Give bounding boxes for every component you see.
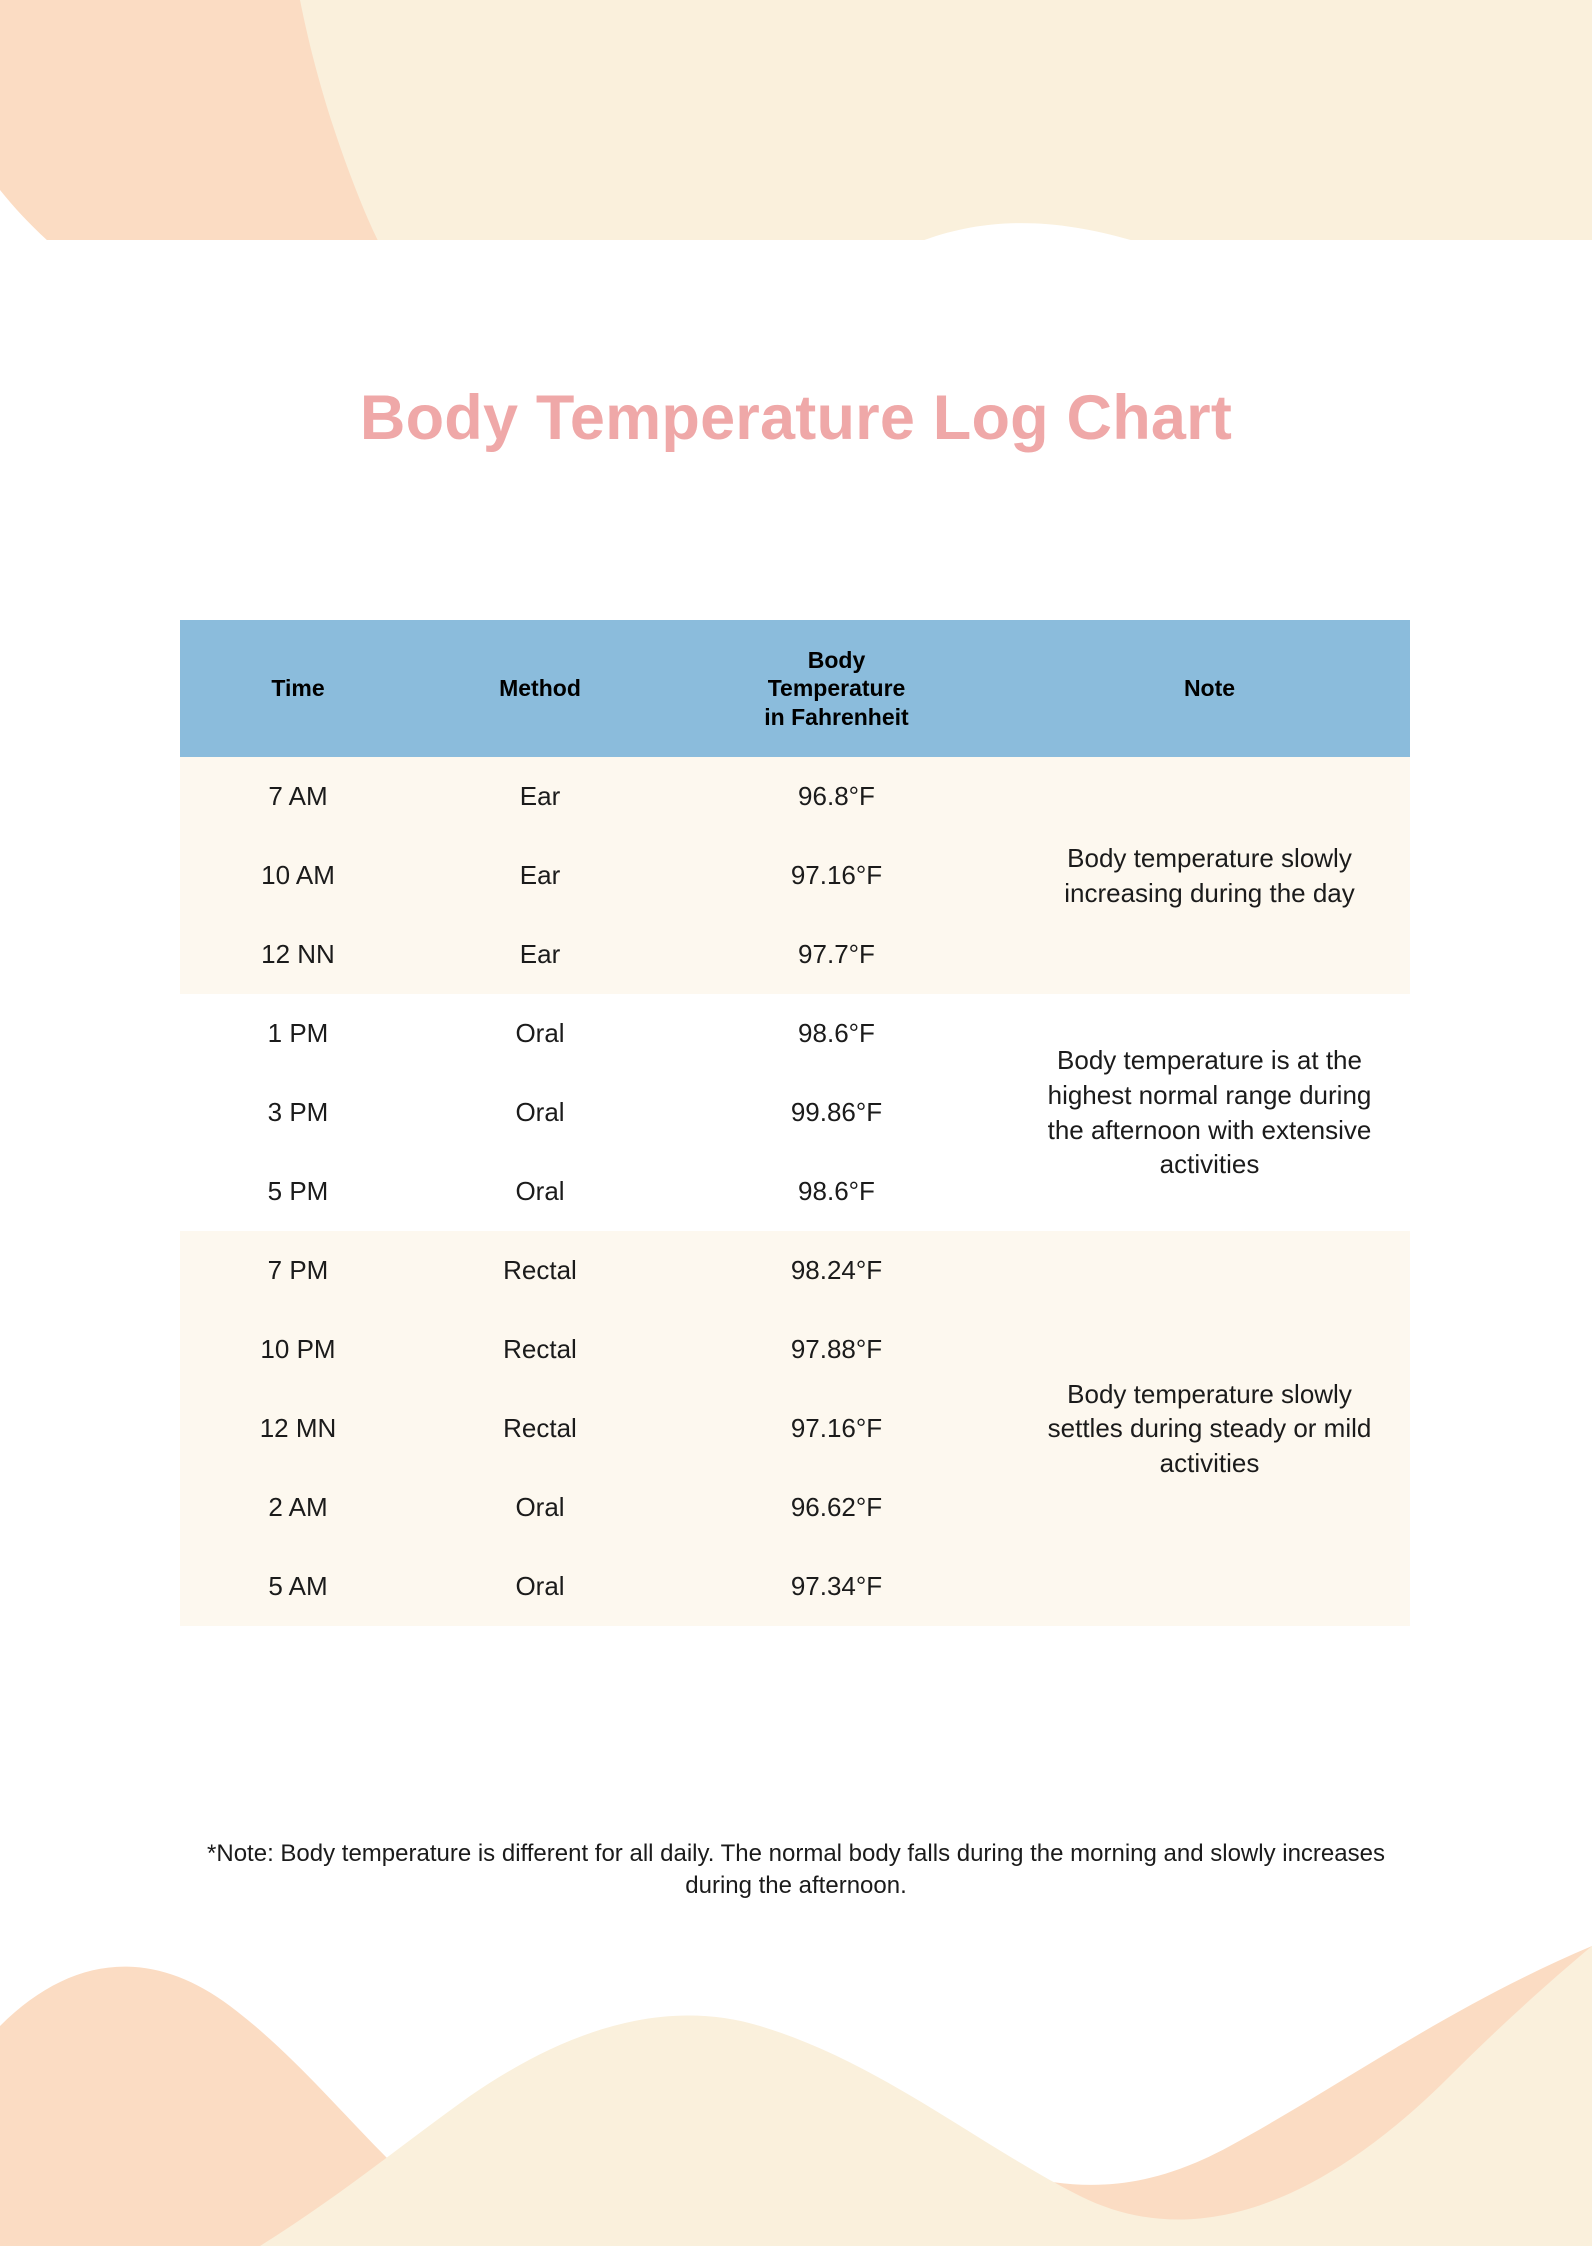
cell-temperature: 96.62°F: [664, 1468, 1009, 1547]
cell-time: 2 AM: [180, 1468, 416, 1547]
bottom-wave-cream: [0, 1946, 1592, 2246]
cell-time: 1 PM: [180, 994, 416, 1073]
cell-temperature: 98.24°F: [664, 1231, 1009, 1310]
cell-time: 5 PM: [180, 1152, 416, 1231]
cell-temperature: 98.6°F: [664, 994, 1009, 1073]
bottom-decoration: [0, 1946, 1592, 2246]
cell-temperature: 97.16°F: [664, 836, 1009, 915]
cell-note: Body temperature slowly increasing durin…: [1009, 757, 1410, 994]
cell-temperature: 97.7°F: [664, 915, 1009, 994]
cell-method: Oral: [416, 994, 664, 1073]
cell-temperature: 97.34°F: [664, 1547, 1009, 1626]
column-header-note: Note: [1009, 620, 1410, 757]
cell-time: 7 PM: [180, 1231, 416, 1310]
cell-method: Rectal: [416, 1231, 664, 1310]
temperature-log-table-container: Time Method Body Temperature in Fahrenhe…: [180, 620, 1410, 1626]
footnote-text: *Note: Body temperature is different for…: [196, 1838, 1396, 1903]
column-header-method: Method: [416, 620, 664, 757]
table-body: 7 AMEar96.8°FBody temperature slowly inc…: [180, 757, 1410, 1626]
cell-time: 12 MN: [180, 1389, 416, 1468]
column-header-temp-line-2: Temperature: [768, 675, 906, 701]
cell-note: Body temperature is at the highest norma…: [1009, 994, 1410, 1231]
cell-temperature: 97.88°F: [664, 1310, 1009, 1389]
column-header-temp-line-3: in Fahrenheit: [764, 704, 908, 730]
cell-method: Oral: [416, 1468, 664, 1547]
cell-time: 10 PM: [180, 1310, 416, 1389]
cell-method: Ear: [416, 915, 664, 994]
table-row: 7 AMEar96.8°FBody temperature slowly inc…: [180, 757, 1410, 836]
cell-temperature: 97.16°F: [664, 1389, 1009, 1468]
cell-time: 5 AM: [180, 1547, 416, 1626]
cell-method: Oral: [416, 1152, 664, 1231]
cell-method: Oral: [416, 1547, 664, 1626]
cell-time: 12 NN: [180, 915, 416, 994]
column-header-time: Time: [180, 620, 416, 757]
page-title: Body Temperature Log Chart: [0, 382, 1592, 454]
cell-method: Rectal: [416, 1389, 664, 1468]
top-decoration: [0, 0, 1592, 240]
top-wave-cream: [300, 0, 1592, 240]
cell-method: Oral: [416, 1073, 664, 1152]
column-header-body-temperature: Body Temperature in Fahrenheit: [664, 620, 1009, 757]
cell-note: Body temperature slowly settles during s…: [1009, 1231, 1410, 1626]
table-row: 7 PMRectal98.24°FBody temperature slowly…: [180, 1231, 1410, 1310]
table-header-row: Time Method Body Temperature in Fahrenhe…: [180, 620, 1410, 757]
table-row: 1 PMOral98.6°FBody temperature is at the…: [180, 994, 1410, 1073]
cell-method: Ear: [416, 836, 664, 915]
cell-method: Rectal: [416, 1310, 664, 1389]
cell-temperature: 96.8°F: [664, 757, 1009, 836]
table-header: Time Method Body Temperature in Fahrenhe…: [180, 620, 1410, 757]
column-header-temp-line-1: Body: [808, 647, 866, 673]
temperature-log-table: Time Method Body Temperature in Fahrenhe…: [180, 620, 1410, 1626]
cell-temperature: 99.86°F: [664, 1073, 1009, 1152]
cell-time: 10 AM: [180, 836, 416, 915]
cell-time: 7 AM: [180, 757, 416, 836]
cell-time: 3 PM: [180, 1073, 416, 1152]
top-wave-peach: [0, 0, 1592, 240]
cell-method: Ear: [416, 757, 664, 836]
bottom-wave-peach: [0, 1946, 1592, 2246]
cell-temperature: 98.6°F: [664, 1152, 1009, 1231]
